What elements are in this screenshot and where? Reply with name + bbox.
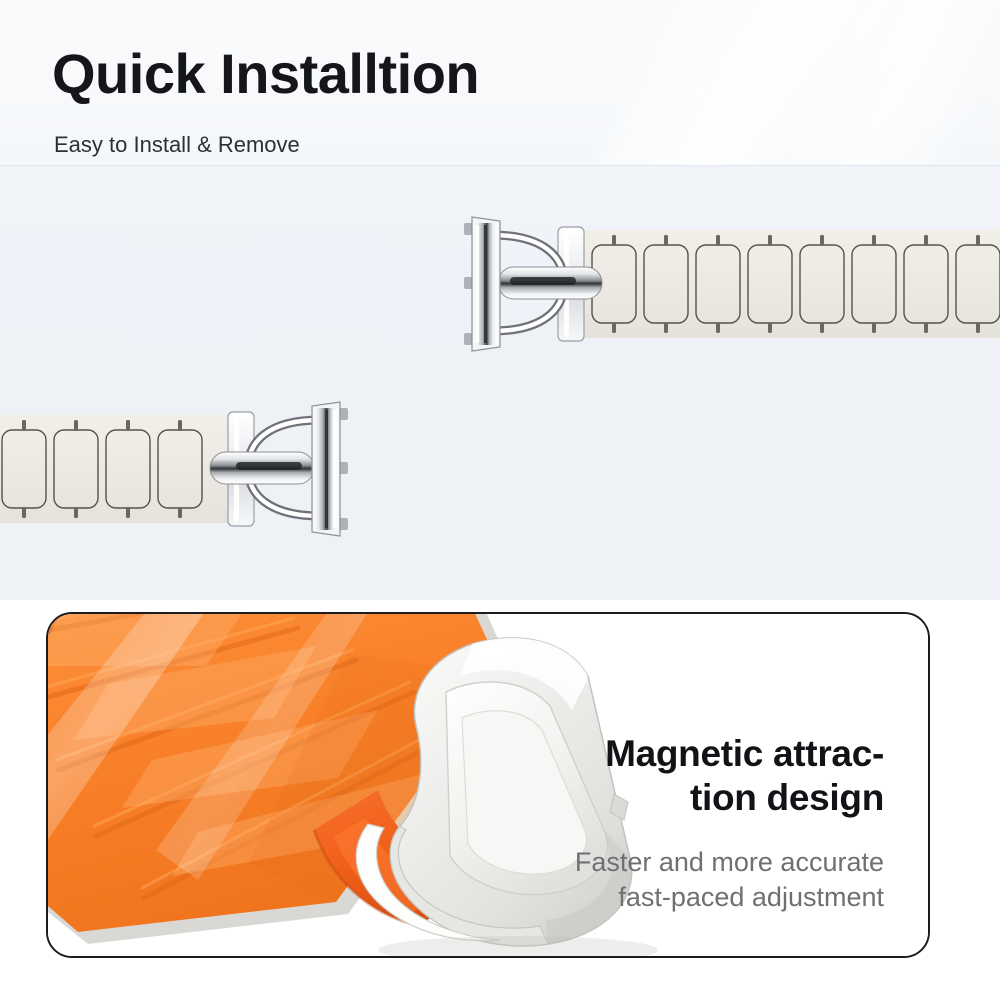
feature-subcopy-line-2: fast-paced adjustment — [524, 880, 884, 915]
clasp-pin-bar — [498, 267, 602, 299]
band-strap — [570, 230, 1000, 338]
clasp-connector-plate — [312, 402, 348, 536]
upper-band-illustration — [440, 205, 1000, 365]
feature-headline-line-2: tion design — [524, 776, 884, 820]
page-subtitle: Easy to Install & Remove — [54, 133, 300, 157]
page-title: Quick Installtion — [52, 46, 479, 102]
band-strap — [0, 415, 234, 523]
top-section: Quick Installtion Easy to Install & Remo… — [0, 0, 1000, 600]
feature-panel: Magnetic attrac- tion design Faster and … — [46, 612, 930, 958]
product-poster: Quick Installtion Easy to Install & Remo… — [0, 0, 1000, 1000]
feature-subcopy-line-1: Faster and more accurate — [524, 845, 884, 880]
feature-headline-line-1: Magnetic attrac- — [524, 732, 884, 776]
feature-subcopy: Faster and more accurate fast-paced adju… — [524, 845, 884, 915]
clasp-connector-plate — [464, 217, 500, 351]
lower-band-illustration — [0, 390, 372, 550]
feature-headline: Magnetic attrac- tion design — [524, 732, 884, 819]
clasp-pin-bar — [210, 452, 314, 484]
feature-text-block: Magnetic attrac- tion design Faster and … — [524, 732, 884, 916]
